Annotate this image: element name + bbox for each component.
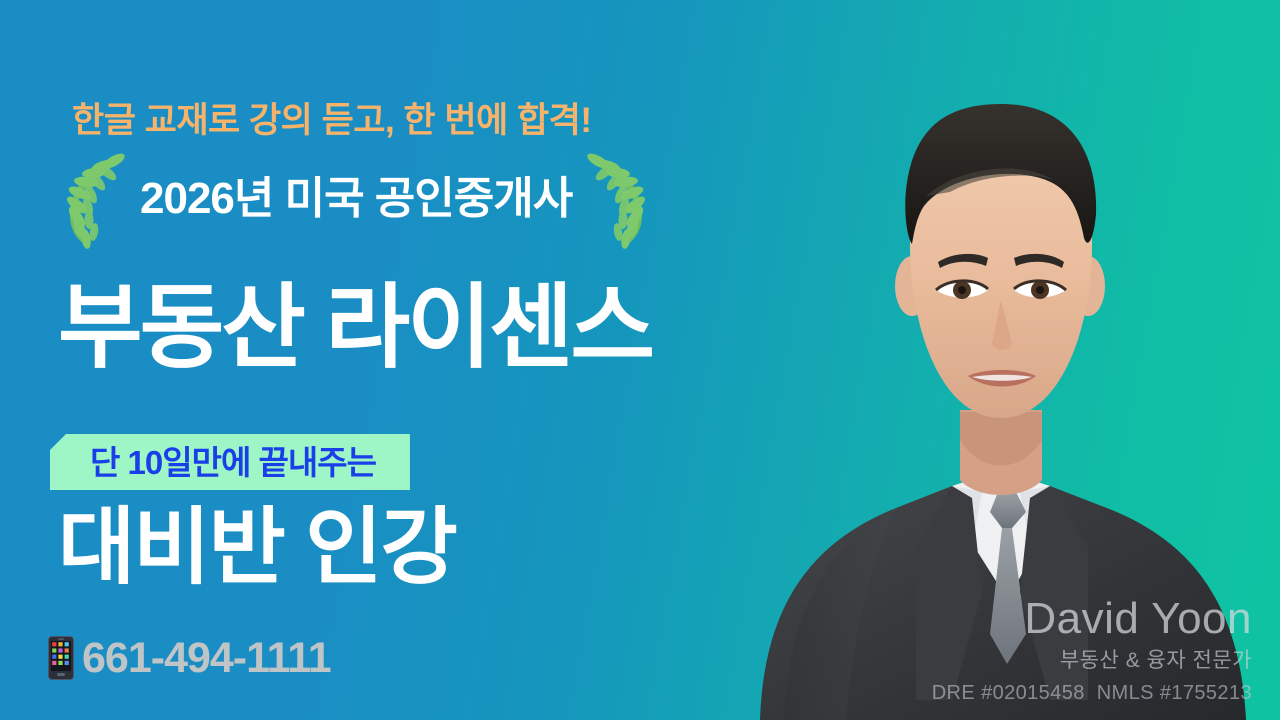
portrait-photo [720,0,1280,720]
sub-headline: 대비반 인강 [58,505,456,589]
laurel-wreath-left-icon [60,149,134,249]
highlight-badge: 단 10일만에 끝내주는 [50,434,410,490]
banner-content: 한글 교재로 강의 듣고, 한 번에 합격! [0,0,790,720]
kicker-text: 한글 교재로 강의 듣고, 한 번에 합격! [72,92,592,143]
highlight-badge-text: 단 10일만에 끝내주는 [90,446,376,479]
wreath-title-row: 2026년 미국 공인중개사 [60,148,720,250]
main-headline: 부동산 라이센스 [58,282,652,374]
phone-number-text: 661-494-1111 [82,637,331,680]
phone-contact[interactable]: 661-494-1111 [48,636,331,680]
business-man-portrait-illustration [720,0,1280,720]
year-title: 2026년 미국 공인중개사 [134,177,578,221]
laurel-wreath-right-icon [578,149,652,249]
promo-banner: 한글 교재로 강의 듣고, 한 번에 합격! [0,0,1280,720]
mobile-phone-icon [48,636,74,680]
